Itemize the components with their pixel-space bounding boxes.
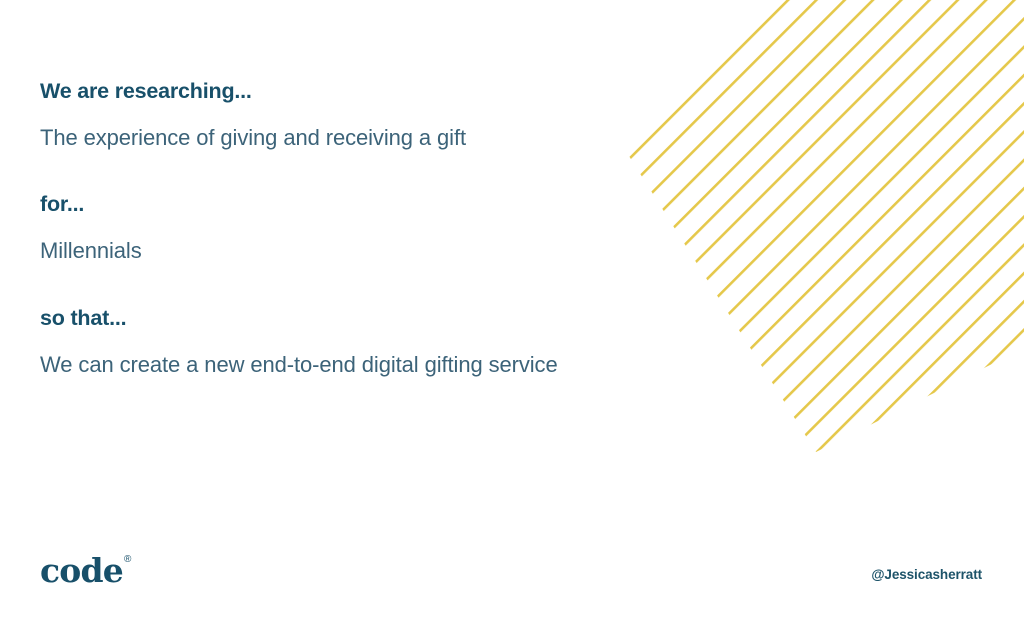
research-block-body: The experience of giving and receiving a… xyxy=(40,124,680,153)
slide-footer: code ® @Jessicasherratt xyxy=(0,543,1024,587)
audience-block-body: Millennials xyxy=(40,237,680,266)
outcome-block-heading: so that... xyxy=(40,305,680,332)
slide-canvas: We are researching... The experience of … xyxy=(0,0,1024,617)
code-logo-wordmark: code xyxy=(40,554,123,587)
outcome-block: so that... We can create a new end-to-en… xyxy=(40,305,680,379)
content-column: We are researching... The experience of … xyxy=(40,78,680,379)
author-handle: @Jessicasherratt xyxy=(871,568,982,582)
research-block: We are researching... The experience of … xyxy=(40,78,680,152)
registered-trademark-icon: ® xyxy=(124,555,131,565)
audience-block: for... Millennials xyxy=(40,191,680,265)
code-logo: code ® xyxy=(40,554,130,587)
research-block-heading: We are researching... xyxy=(40,78,680,105)
outcome-block-body: We can create a new end-to-end digital g… xyxy=(40,351,680,380)
audience-block-heading: for... xyxy=(40,191,680,218)
